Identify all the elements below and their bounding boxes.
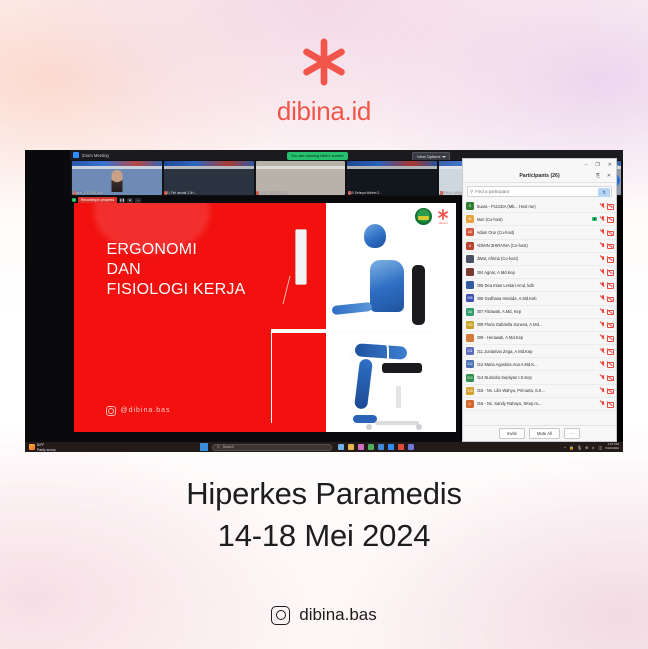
- camera-off-icon[interactable]: [607, 283, 613, 288]
- participant-row[interactable]: MMori (Co-host)■: [463, 213, 616, 226]
- weather-temperature: 84°F: [37, 443, 44, 447]
- participant-icons: [601, 295, 614, 301]
- participant-icons: [601, 309, 614, 315]
- camera-off-icon[interactable]: [607, 362, 613, 367]
- participant-avatar: S: [466, 202, 474, 210]
- mic-off-icon[interactable]: [601, 256, 605, 262]
- recording-label: Recording in progress: [78, 197, 117, 203]
- camera-off-icon[interactable]: [607, 309, 613, 314]
- zoom-screenshot: Zoom Meeting You are viewing Mbk's scree…: [25, 150, 623, 452]
- maximize-button[interactable]: ❐: [595, 162, 599, 168]
- tray-lock-icon[interactable]: 🔒: [569, 445, 574, 450]
- tray-network-icon[interactable]: ⊕: [585, 445, 588, 450]
- taskbar-app-icon[interactable]: [368, 444, 374, 450]
- poster-caption: Hiperkes Paramedis 14-18 Mei 2024: [0, 476, 648, 554]
- participant-name: Suara - P11SDA (Mb... Host me): [477, 204, 599, 209]
- participant-row[interactable]: GA007 Fitrawati, A.Md, Kep: [463, 306, 616, 319]
- video-thumbnail-name: 010 Dehnya Winbet 2...: [348, 191, 436, 195]
- participant-icons: [601, 335, 614, 341]
- participant-avatar: 012: [466, 360, 474, 368]
- participant-name: 012 Maria Agustina Ana A.Md.K...: [477, 362, 599, 367]
- poster-background: dibina.id Zoom Meeting You are viewing M…: [0, 0, 648, 649]
- participant-name: 016 - Ns. Sandy Rahayu, SKep.m...: [477, 401, 599, 406]
- participant-icons: [601, 256, 614, 262]
- participant-avatar: 015: [466, 387, 474, 395]
- participant-icons: [601, 203, 614, 209]
- participants-panel-footer: Invite Mute All ⋯: [463, 425, 616, 441]
- poster-footer: dibina.bas: [0, 605, 648, 625]
- participant-row[interactable]: 0-016 - Ns. Sandy Rahayu, SKep.m...: [463, 398, 616, 411]
- participant-icons: [601, 282, 614, 288]
- participant-status-badge: ■: [592, 217, 597, 221]
- mic-off-icon[interactable]: [601, 388, 605, 394]
- search-icon: ⚲: [470, 189, 473, 195]
- participant-name: 015 - Ns. Lilis Wahyu, Primarta, S.K...: [477, 388, 599, 393]
- hiperkes-green-logo-icon: [415, 208, 432, 225]
- panel-window-controls: – ❐ ✕: [463, 159, 616, 170]
- participant-icons: [601, 269, 614, 275]
- participant-icons: [601, 322, 614, 328]
- dibina-asterisk-logo-icon: dibina.id: [436, 208, 450, 225]
- recording-status-dot: [72, 198, 76, 202]
- participants-panel-title: Participants (26): [519, 173, 559, 179]
- invite-button[interactable]: Invite: [499, 428, 525, 439]
- mute-all-button[interactable]: Mute All: [529, 428, 560, 439]
- camera-off-icon[interactable]: [607, 270, 613, 275]
- participant-list[interactable]: SSuara - P11SDA (Mb... Host me)MMori (Co…: [463, 200, 616, 425]
- camera-off-icon[interactable]: [607, 243, 613, 248]
- mic-off-icon[interactable]: [601, 375, 605, 381]
- participant-name: Mori (Co-host): [477, 217, 590, 222]
- zoom-app-icon: [73, 152, 79, 158]
- weather-description: Partly sunny: [37, 448, 56, 452]
- shared-screen-stage: Recording in progress ❚❚ ■ ⋯: [70, 196, 460, 442]
- camera-off-icon[interactable]: [607, 401, 613, 406]
- search-action-badge[interactable]: ↯: [598, 188, 610, 197]
- participant-avatar: [466, 281, 474, 289]
- participant-avatar: A: [466, 242, 474, 250]
- search-input[interactable]: [475, 189, 609, 194]
- video-thumbnail-name: 017 Dewi Amal Faure...: [257, 191, 345, 195]
- mic-off-icon[interactable]: [601, 322, 605, 328]
- mic-off-icon[interactable]: [601, 335, 605, 341]
- participant-avatar: 0-: [466, 400, 474, 408]
- mic-off-icon[interactable]: [601, 309, 605, 315]
- zoom-window-title: Zoom Meeting: [82, 153, 109, 158]
- mic-off-icon[interactable]: [601, 348, 605, 354]
- camera-off-icon[interactable]: [607, 296, 613, 301]
- mic-off-icon[interactable]: [601, 269, 605, 275]
- participant-avatar: [466, 255, 474, 263]
- participant-name: ADMIN 3HIRAINA (Co-host): [477, 243, 599, 248]
- mic-off-icon[interactable]: [601, 243, 605, 249]
- camera-off-icon[interactable]: [607, 256, 613, 261]
- camera-off-icon[interactable]: [607, 204, 613, 209]
- video-thumbnail[interactable]: 010 Dehnya Winbet 2...: [347, 161, 437, 195]
- participant-row[interactable]: 011011 Juniaman Zega, A.Md.Kep: [463, 345, 616, 358]
- mic-off-icon[interactable]: [601, 203, 605, 209]
- taskbar-zoom-icon[interactable]: [388, 444, 394, 450]
- taskbar-app-icon[interactable]: [398, 444, 404, 450]
- mic-off-icon[interactable]: [601, 295, 605, 301]
- participant-avatar: [466, 268, 474, 276]
- participant-row[interactable]: 004 Agnar, A.Md.Kep: [463, 266, 616, 279]
- caption-title: Hiperkes Paramedis: [0, 476, 648, 512]
- taskbar-app-icon[interactable]: [348, 444, 354, 450]
- participant-name: 006 Gedhana Harsida, A.Md.Keb: [477, 296, 599, 301]
- participant-row[interactable]: 015015 - Ns. Lilis Wahyu, Primarta, S.K.…: [463, 385, 616, 398]
- participant-avatar: 006: [466, 294, 474, 302]
- slide-title: ERGONOMI DAN FISIOLOGI KERJA: [106, 240, 245, 300]
- participant-row[interactable]: 014014 Nurindra Septiyan I.S.Kep: [463, 371, 616, 384]
- video-thumbnail[interactable]: Suara - P11SDA (Mb...: [72, 161, 162, 195]
- participant-avatar: 008: [466, 321, 474, 329]
- brand-header: dibina.id: [0, 34, 648, 127]
- video-thumbnail[interactable]: 017 Dewi Amal Faure...: [256, 161, 346, 195]
- participant-avatar: 011: [466, 347, 474, 355]
- participant-row[interactable]: SSuara - P11SDA (Mb... Host me): [463, 200, 616, 213]
- taskbar-weather-widget[interactable]: 84°F Partly sunny: [25, 442, 200, 452]
- camera-off-icon[interactable]: [607, 230, 613, 235]
- taskbar-app-icon[interactable]: [358, 444, 364, 450]
- participant-avatar: GA: [466, 308, 474, 316]
- participant-icons: [601, 243, 614, 249]
- taskbar-app-icon[interactable]: [378, 444, 384, 450]
- video-thumbnail-name: 011 Fitri Ismiati 2.0H...: [165, 191, 253, 195]
- participant-name: dWat, Afrima (Co-host): [477, 256, 599, 261]
- participant-avatar: AD: [466, 228, 474, 236]
- participant-row[interactable]: dWat, Afrima (Co-host): [463, 253, 616, 266]
- camera-off-icon[interactable]: [607, 217, 613, 222]
- mic-off-icon[interactable]: [601, 216, 605, 222]
- tray-volume-icon[interactable]: ♬: [591, 445, 595, 450]
- slide-instagram-handle: @dibina.bas: [106, 406, 170, 416]
- mic-off-icon[interactable]: [601, 401, 605, 407]
- dibina-asterisk-icon: [296, 34, 352, 90]
- participant-name: 009 - Herawati, A.Md.Kep: [477, 335, 599, 340]
- participant-icons: [601, 375, 614, 381]
- tray-expand-icon[interactable]: ^: [564, 445, 566, 450]
- participant-row[interactable]: ADAdam Ono (Co-host): [463, 226, 616, 239]
- camera-off-icon[interactable]: [607, 375, 613, 380]
- sun-cloud-icon: [29, 444, 35, 450]
- taskbar-app-icons[interactable]: [338, 444, 414, 450]
- windows-taskbar: 84°F Partly sunny ⚲ Search ^: [25, 442, 623, 452]
- participant-avatar: M: [466, 215, 474, 223]
- camera-off-icon[interactable]: [607, 388, 613, 393]
- participant-name: 007 Fitrawati, A.Md, Kep: [477, 309, 599, 314]
- caption-dates: 14-18 Mei 2024: [0, 518, 648, 554]
- screen-share-banner: You are viewing Mbk's screen: [287, 152, 348, 160]
- presentation-slide: dibina.id: [74, 203, 456, 432]
- participant-name: 008 Floria Gabriella Soneva, A.Md...: [477, 322, 599, 327]
- panel-more-button[interactable]: ⋯: [564, 428, 580, 439]
- participant-name: 005 Dea Intan Lestari Amd, kdb: [477, 283, 599, 288]
- participant-icons: [601, 216, 614, 222]
- video-thumbnail-name: Suara - P11SDA (Mb...: [73, 191, 161, 195]
- tray-mic-icon[interactable]: 🎙: [577, 445, 582, 450]
- popout-icon[interactable]: ⎘: [596, 173, 600, 179]
- participant-name: 011 Juniaman Zega, A.Md.Kep: [477, 349, 599, 354]
- clock-date: 5/16/2024: [605, 446, 619, 450]
- participant-row[interactable]: 009 - Herawati, A.Md.Kep: [463, 332, 616, 345]
- taskbar-app-icon[interactable]: [408, 444, 414, 450]
- participant-icons: [601, 348, 614, 354]
- participant-avatar: [466, 334, 474, 342]
- camera-off-icon[interactable]: [607, 322, 613, 327]
- participant-icons: [601, 401, 614, 407]
- search-icon: ⚲: [217, 445, 220, 449]
- background-window-strip: [25, 150, 70, 442]
- instagram-handle: dibina.bas: [299, 605, 377, 625]
- participant-avatar: 014: [466, 374, 474, 382]
- pause-recording-button[interactable]: ❚❚: [119, 198, 125, 203]
- participants-panel: – ❐ ✕ Participants (26) ⎘ ✕ ⚲ ↯ SSuara -…: [462, 158, 617, 442]
- stop-recording-button[interactable]: ■: [127, 198, 133, 203]
- camera-off-icon[interactable]: [607, 335, 613, 340]
- system-tray[interactable]: ^ 🔒 🎙 ⊕ ♬ ◫ 1:07 PM 5/16/2024: [564, 443, 623, 451]
- participant-row[interactable]: 006006 Gedhana Harsida, A.Md.Keb: [463, 292, 616, 305]
- instagram-icon: [271, 606, 290, 625]
- mic-off-icon[interactable]: [601, 361, 605, 367]
- slide-logos: dibina.id: [415, 208, 450, 225]
- participant-row[interactable]: 008008 Floria Gabriella Soneva, A.Md...: [463, 319, 616, 332]
- participant-row[interactable]: 005 Dea Intan Lestari Amd, kdb: [463, 279, 616, 292]
- recording-more-button[interactable]: ⋯: [135, 198, 141, 203]
- participant-icons: [601, 361, 614, 367]
- close-icon[interactable]: ✕: [607, 173, 611, 179]
- participants-panel-header: Participants (26) ⎘ ✕: [463, 170, 616, 183]
- mic-off-icon[interactable]: [601, 229, 605, 235]
- taskbar-app-icon[interactable]: [338, 444, 344, 450]
- recording-controls: Recording in progress ❚❚ ■ ⋯: [72, 197, 141, 203]
- taskbar-clock[interactable]: 1:07 PM 5/16/2024: [605, 443, 619, 451]
- brand-name: dibina.id: [277, 96, 371, 127]
- minimize-button[interactable]: –: [585, 162, 588, 168]
- mic-off-icon[interactable]: [601, 282, 605, 288]
- video-thumbnail[interactable]: 011 Fitri Ismiati 2.0H...: [164, 161, 254, 195]
- camera-off-icon[interactable]: [607, 349, 613, 354]
- close-button[interactable]: ✕: [608, 162, 612, 168]
- participant-icons: [601, 229, 614, 235]
- participant-row[interactable]: AADMIN 3HIRAINA (Co-host): [463, 240, 616, 253]
- ergonomic-posture-illustration: [303, 203, 456, 432]
- participant-name: 014 Nurindra Septiyan I.S.Kep: [477, 375, 599, 380]
- participant-name: Adam Ono (Co-host): [477, 230, 599, 235]
- slide-handle-text: @dibina.bas: [120, 407, 170, 414]
- windows-start-icon[interactable]: [200, 443, 208, 451]
- taskbar-search-box[interactable]: ⚲ Search: [212, 444, 332, 451]
- svg-text:dibina.id: dibina.id: [439, 222, 449, 225]
- participant-row[interactable]: 012012 Maria Agustina Ana A.Md.K...: [463, 358, 616, 371]
- tray-battery-icon[interactable]: ◫: [598, 445, 602, 450]
- participant-search[interactable]: ⚲ ↯: [467, 186, 612, 197]
- taskbar-search-placeholder: Search: [223, 445, 234, 449]
- participant-name: 004 Agnar, A.Md.Kep: [477, 270, 599, 275]
- participant-icons: [601, 388, 614, 394]
- instagram-icon: [106, 406, 116, 416]
